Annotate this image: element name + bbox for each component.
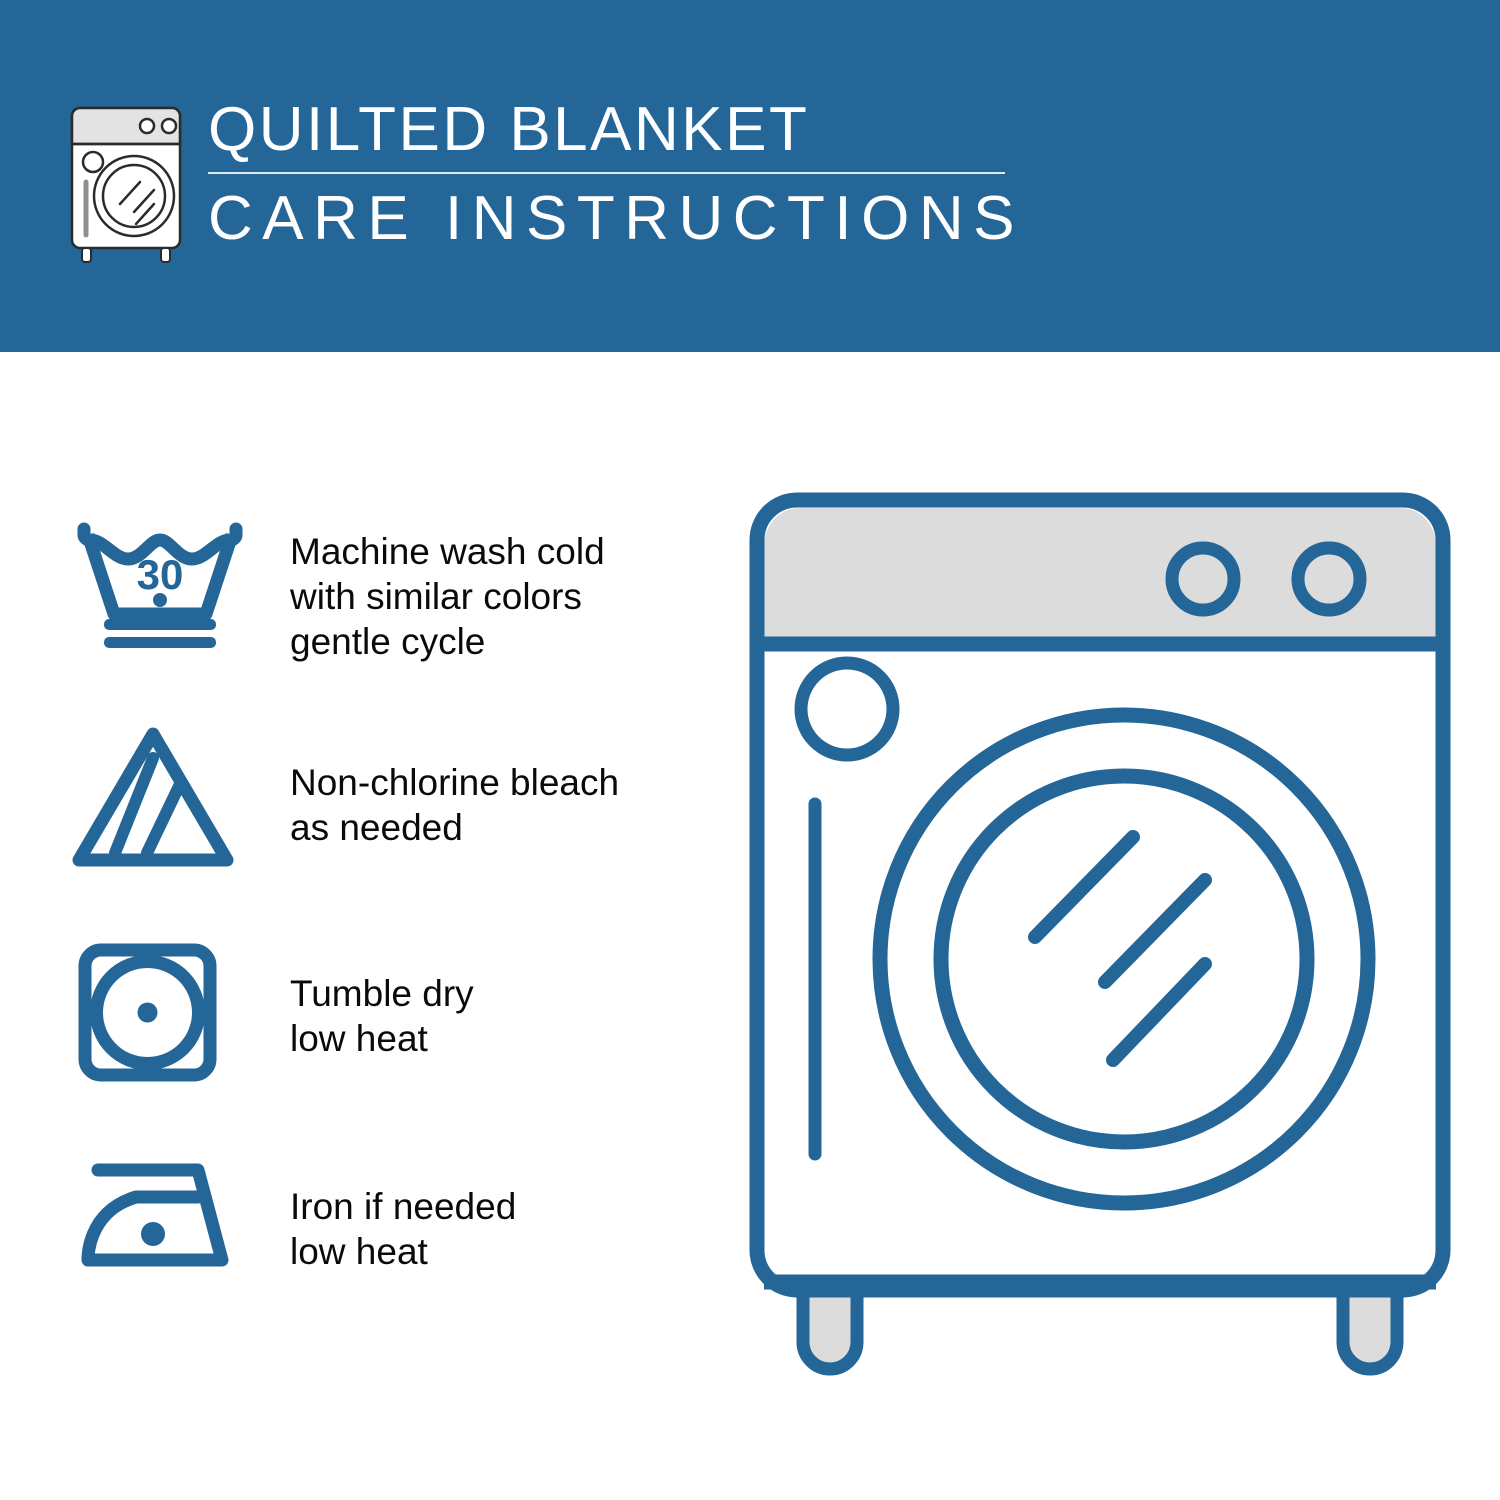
care-instructions-page: QUILTED BLANKET CARE INSTRUCTIONS 30 [0,0,1500,1500]
title-block: QUILTED BLANKET CARE INSTRUCTIONS [208,96,1024,254]
list-item-label: Machine wash cold with similar colors ge… [270,507,710,664]
list-item: 30 Machine wash cold with similar colors… [70,507,710,722]
care-symbol-slot [70,722,270,882]
non-chlorine-bleach-triangle-icon [70,722,250,872]
tumble-dry-low-heat-icon [70,937,250,1087]
list-item: Non-chlorine bleach as needed [70,722,710,937]
wash-temperature-label: 30 [137,551,184,598]
care-symbol-slot [70,937,270,1097]
washing-machine-icon [62,100,192,268]
low-heat-dot-icon [138,1003,158,1023]
care-symbol-slot: 30 [70,507,270,667]
list-item: Iron if needed low heat [70,1152,710,1367]
care-instruction-list: 30 Machine wash cold with similar colors… [70,507,710,1367]
iron-low-heat-icon [70,1152,250,1302]
list-item-label: Tumble dry low heat [270,937,710,1061]
list-item: Tumble dry low heat [70,937,710,1152]
header-inner: QUILTED BLANKET CARE INSTRUCTIONS [62,96,1024,268]
control-panel [765,508,1436,642]
page-subtitle: CARE INSTRUCTIONS [208,184,1024,254]
care-symbol-slot [70,1152,270,1312]
list-item-label: Iron if needed low heat [270,1152,710,1274]
low-heat-dot-icon [141,1222,165,1246]
front-load-washing-machine-illustration [735,482,1465,1432]
content-area: 30 Machine wash cold with similar colors… [0,352,1500,1500]
gentle-dot-icon [153,593,167,607]
wash-tub-30-gentle-icon: 30 [70,507,250,657]
page-title: QUILTED BLANKET [208,96,1024,164]
header-banner: QUILTED BLANKET CARE INSTRUCTIONS [0,0,1500,352]
title-divider [208,172,1005,174]
list-item-label: Non-chlorine bleach as needed [270,722,710,850]
